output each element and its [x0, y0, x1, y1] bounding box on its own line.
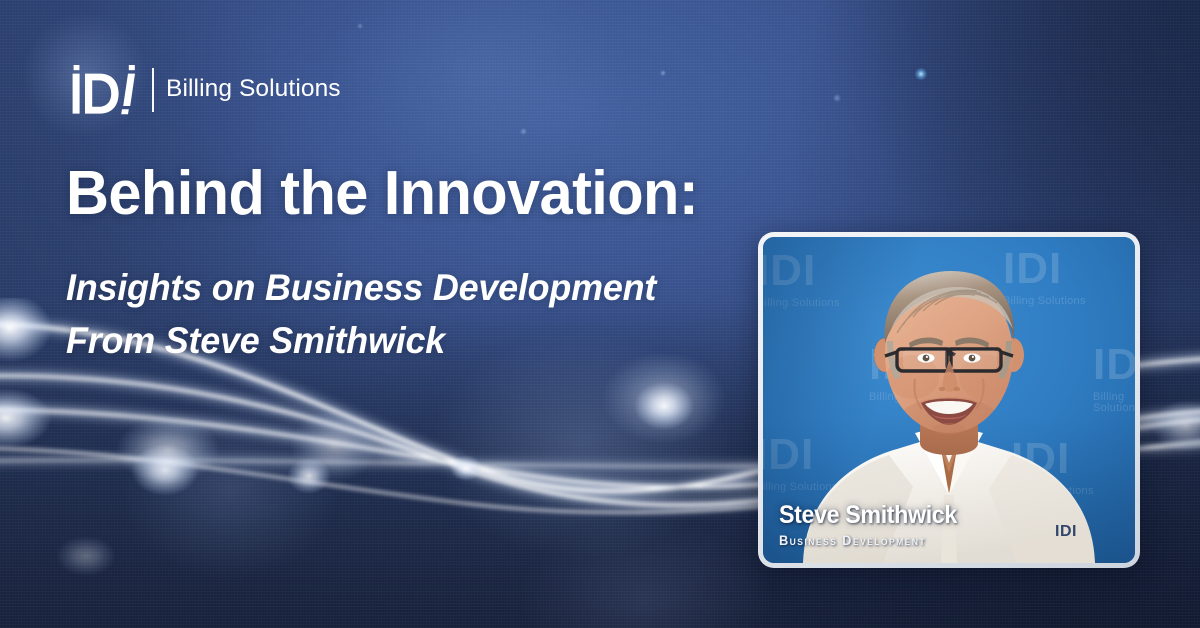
logo-wordmark: Billing Solutions [166, 77, 341, 104]
brand-logo[interactable]: Billing Solutions [70, 62, 341, 118]
speaker-name: Steve Smithwick [779, 502, 957, 528]
subtitle-line-2: From Steve Smithwick [66, 315, 656, 368]
speaker-nameplate: Steve Smithwick Business Development [779, 502, 970, 547]
page-title: Behind the Innovation: [66, 162, 698, 226]
page-subtitle: Insights on Business Development From St… [66, 262, 656, 367]
idi-logo-icon [70, 63, 148, 117]
speaker-video-frame: IDI Billing Solutions IDI Billing Soluti… [763, 237, 1135, 563]
speaker-video-card[interactable]: IDI Billing Solutions IDI Billing Soluti… [758, 232, 1140, 568]
speaker-role: Business Development [779, 534, 961, 548]
shirt-idi-logo-icon: IDI [1055, 523, 1077, 541]
subtitle-line-1: Insights on Business Development [66, 262, 656, 315]
promo-banner: Billing Solutions Behind the Innovation:… [0, 0, 1200, 628]
logo-divider [152, 68, 154, 112]
